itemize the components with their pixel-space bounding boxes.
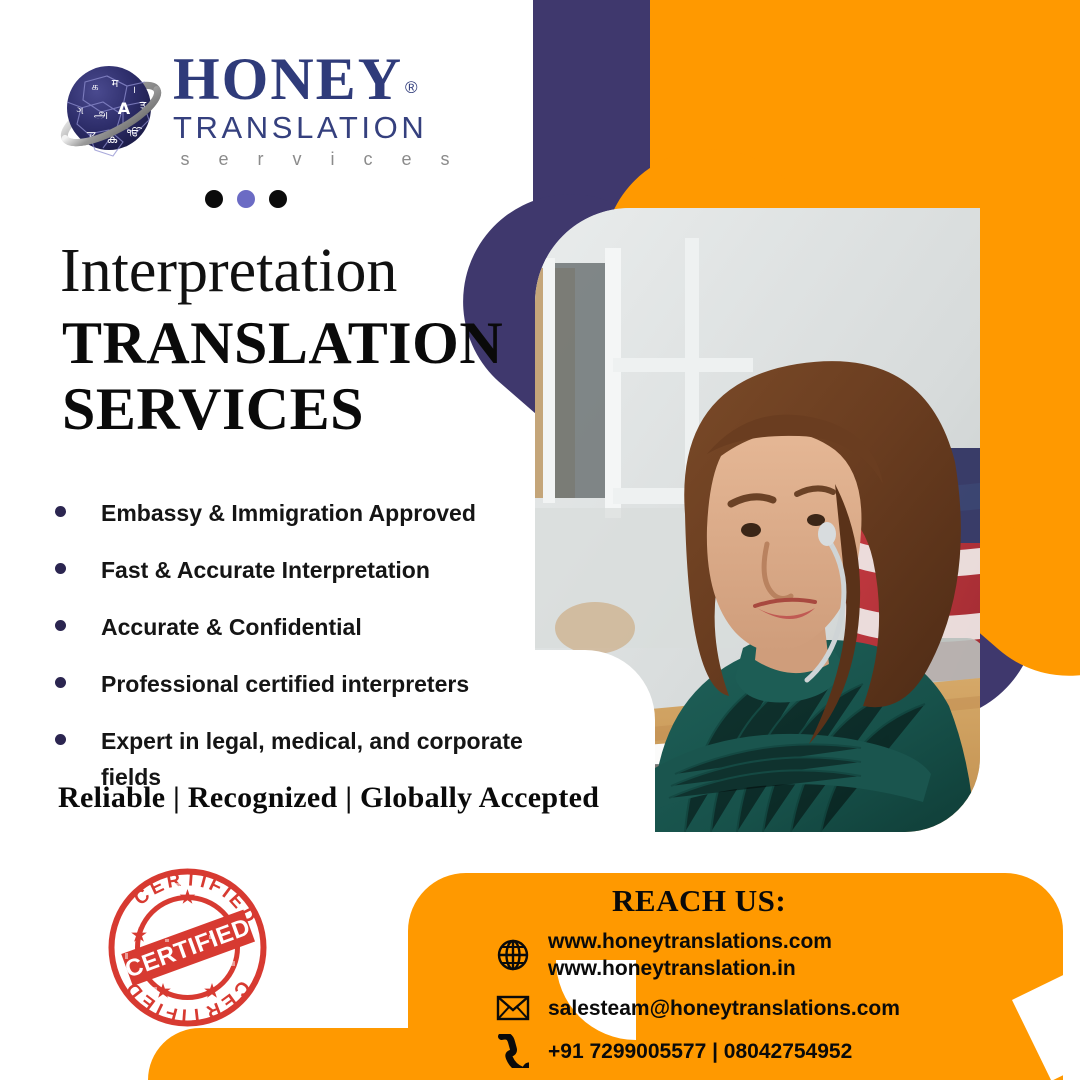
svg-text:ગ: ગ bbox=[76, 106, 83, 117]
divider-dot-3 bbox=[269, 190, 287, 208]
divider-dot-2 bbox=[237, 190, 255, 208]
bullet-dot-icon bbox=[55, 620, 66, 631]
bullet-dot-icon bbox=[55, 506, 66, 517]
contact-phone-text: +91 7299005577 | 08042754952 bbox=[548, 1038, 852, 1065]
poster-canvas: க म । ગ அ A ਤ ア ക ੴ HONEY® bbox=[0, 0, 1080, 1080]
svg-text:।: । bbox=[132, 85, 136, 96]
contact-row-phone[interactable]: +91 7299005577 | 08042754952 bbox=[492, 1034, 1052, 1068]
registered-trademark-icon: ® bbox=[405, 78, 418, 97]
contact-website-text: www.honeytranslations.com www.honeytrans… bbox=[548, 928, 832, 982]
contact-heading: REACH US: bbox=[612, 883, 786, 919]
list-item: Embassy & Immigration Approved bbox=[55, 495, 525, 531]
headline-main: TRANSLATION SERVICES bbox=[62, 310, 532, 442]
globe-icon bbox=[492, 938, 534, 972]
headline-kicker: Interpretation bbox=[60, 238, 397, 304]
svg-text:க: க bbox=[91, 80, 98, 93]
list-item-label: Professional certified interpreters bbox=[101, 666, 469, 702]
website-line-2: www.honeytranslation.in bbox=[548, 955, 832, 982]
contact-details-list: www.honeytranslations.com www.honeytrans… bbox=[492, 928, 1052, 1080]
logo-name: HONEY bbox=[173, 48, 403, 110]
svg-text:म: म bbox=[112, 77, 119, 90]
list-item-label: Accurate & Confidential bbox=[101, 609, 362, 645]
svg-text:CERTIFIED: CERTIFIED bbox=[121, 976, 254, 1026]
divider-dot-1 bbox=[205, 190, 223, 208]
brand-logo: க म । ગ அ A ਤ ア ക ੴ HONEY® bbox=[55, 48, 455, 178]
globe-logo-icon: க म । ગ அ A ਤ ア ക ੴ bbox=[55, 56, 167, 168]
bullet-dot-icon bbox=[55, 563, 66, 574]
contact-row-website[interactable]: www.honeytranslations.com www.honeytrans… bbox=[492, 928, 1052, 982]
tagline: Reliable | Recognized | Globally Accepte… bbox=[58, 780, 599, 816]
headline-line-2: SERVICES bbox=[62, 376, 532, 442]
logo-dot-divider bbox=[205, 190, 287, 208]
logo-wordmark: HONEY® TRANSLATION s e r v i c e s bbox=[173, 48, 463, 172]
svg-text:A: A bbox=[118, 99, 131, 118]
bullet-dot-icon bbox=[55, 677, 66, 688]
logo-line-services: s e r v i c e s bbox=[173, 146, 463, 172]
list-item-label: Embassy & Immigration Approved bbox=[101, 495, 476, 531]
list-item-label: Fast & Accurate Interpretation bbox=[101, 552, 430, 588]
bullet-dot-icon bbox=[55, 734, 66, 745]
phone-icon bbox=[492, 1034, 534, 1068]
logo-name-row: HONEY® bbox=[173, 48, 463, 110]
logo-line-translation: TRANSLATION bbox=[173, 110, 463, 146]
svg-text:அ: அ bbox=[94, 107, 108, 122]
website-line-1: www.honeytranslations.com bbox=[548, 928, 832, 955]
feature-bullet-list: Embassy & Immigration Approved Fast & Ac… bbox=[55, 495, 525, 816]
headline-line-1: TRANSLATION bbox=[62, 310, 532, 376]
list-item: Fast & Accurate Interpretation bbox=[55, 552, 525, 588]
envelope-icon bbox=[492, 994, 534, 1022]
contact-email-text: salesteam@honeytranslations.com bbox=[548, 995, 900, 1022]
contact-row-email[interactable]: salesteam@honeytranslations.com bbox=[492, 994, 1052, 1022]
list-item: Accurate & Confidential bbox=[55, 609, 525, 645]
list-item: Professional certified interpreters bbox=[55, 666, 525, 702]
certified-stamp-icon: CERTIFIED CERTIFIED CERTIFIED bbox=[105, 865, 270, 1030]
